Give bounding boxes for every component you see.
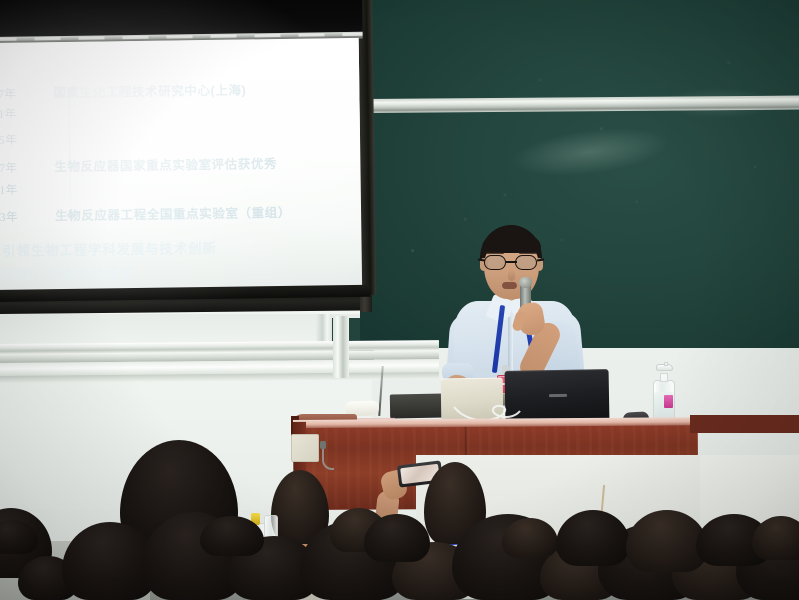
wood-trim-upper-right <box>690 415 799 433</box>
slide-timeline-row: 2021年 <box>0 181 55 198</box>
projection-screen: 1997年 国家生化工程技术研究中心(上海) 2001年 2015年 2017年… <box>0 0 376 304</box>
slide-timeline-row: 2017年 生物反应器国家重点实验室评估获优秀 <box>0 153 277 176</box>
sanitizer-neck <box>660 373 668 382</box>
sanitizer-label <box>664 395 673 408</box>
slide-content: 1997年 国家生化工程技术研究中心(上海) 2001年 2015年 2017年… <box>0 38 362 293</box>
slide-row-year: 1997年 <box>0 85 54 102</box>
document-tray <box>390 394 446 419</box>
eyeglasses-icon <box>482 255 542 271</box>
microphone-capsule <box>519 277 532 288</box>
audience-rows <box>0 455 799 600</box>
slide-row-year: 2017年 <box>0 159 55 176</box>
slide-timeline-row: 2001年 <box>0 105 54 122</box>
eyeglass-lens-left <box>484 255 506 270</box>
slide-row-year: 2001年 <box>0 105 54 122</box>
slide-row-text: 生物反应器工程全国重点实验室（重组） <box>55 202 291 224</box>
slide-bullet-subheading: 立点完善、历史底蕴深厚 <box>0 262 133 284</box>
lecture-hall-photo: 1997年 国家生化工程技术研究中心(上海) 2001年 2015年 2017年… <box>0 0 799 600</box>
slide-timeline-row: 1997年 国家生化工程技术研究中心(上海) <box>0 79 246 102</box>
hand-sanitizer-bottle <box>651 362 677 422</box>
slide-timeline-connector <box>68 88 71 216</box>
slide-row-year: 2023年 <box>0 208 55 225</box>
slide-bullet-heading: 4、引领生物工程学科发展与技术创新 <box>0 237 217 260</box>
eyeglass-lens-right <box>515 255 537 270</box>
wall-box-plug <box>320 441 326 449</box>
slide-row-year: 2021年 <box>0 181 55 198</box>
slide-timeline-row: 2015年 <box>0 131 54 148</box>
eyeglass-temple-right <box>537 259 544 262</box>
projected-slide-surface: 1997年 国家生化工程技术研究中心(上海) 2001年 2015年 2017年… <box>0 38 362 293</box>
eyeglass-temple-left <box>478 259 485 262</box>
sanitizer-pump-stem <box>664 362 668 366</box>
slide-row-text: 国家生化工程技术研究中心(上海) <box>53 79 246 101</box>
board-vertical-aluminium-post <box>333 316 349 378</box>
eyeglass-bridge <box>506 261 517 263</box>
slide-timeline-row: 2023年 生物反应器工程全国重点实验室（重组） <box>0 202 291 225</box>
slide-row-text: 生物反应器国家重点实验室评估获优秀 <box>54 153 277 175</box>
slide-row-year: 2015年 <box>0 131 54 148</box>
laptop-brand-logo <box>549 394 567 397</box>
speaker-mouth <box>502 282 517 289</box>
